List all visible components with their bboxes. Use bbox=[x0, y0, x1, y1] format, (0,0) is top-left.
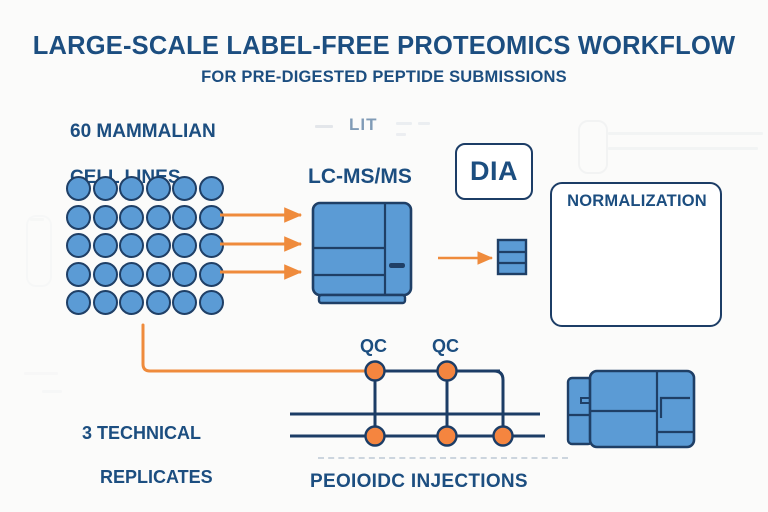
cell-line-dot bbox=[172, 233, 197, 258]
replicates-label-line1: 3 TECHNICAL bbox=[82, 423, 201, 443]
cell-line-dot bbox=[66, 290, 91, 315]
cell-line-dot bbox=[119, 233, 144, 258]
normalization-title: NORMALIZATION bbox=[552, 192, 722, 211]
cell-line-dot bbox=[172, 262, 197, 287]
cell-line-dot bbox=[199, 205, 224, 230]
cell-line-dot bbox=[119, 290, 144, 315]
cell-line-dot bbox=[199, 290, 224, 315]
dia-label: DIA bbox=[455, 143, 533, 200]
cell-line-dot bbox=[146, 233, 171, 258]
ghost-dashed-line bbox=[318, 457, 568, 459]
cell-line-dot bbox=[93, 290, 118, 315]
qc-label-1: QC bbox=[360, 336, 387, 357]
cell-line-dot bbox=[146, 290, 171, 315]
cell-line-dot bbox=[66, 176, 91, 201]
cell-line-dot bbox=[93, 176, 118, 201]
cell-line-dot bbox=[146, 205, 171, 230]
cell-line-dot bbox=[172, 205, 197, 230]
qc-nodes bbox=[366, 362, 513, 446]
cell-line-dot bbox=[93, 262, 118, 287]
cell-line-dot bbox=[93, 205, 118, 230]
feed-arrows bbox=[220, 215, 301, 272]
data-stack-icon bbox=[498, 240, 526, 274]
cell-line-dot bbox=[172, 290, 197, 315]
lcms-label: LC-MS/MS bbox=[308, 164, 412, 190]
cell-line-dot bbox=[199, 176, 224, 201]
cell-line-dot bbox=[146, 176, 171, 201]
qc-label-2: QC bbox=[432, 336, 459, 357]
injections-caption: PEOIOIDC INJECTIONS bbox=[310, 470, 528, 493]
cell-lines-label-line1: 60 MAMMALIAN bbox=[70, 121, 216, 142]
cell-line-dot bbox=[119, 262, 144, 287]
cell-line-dot bbox=[119, 176, 144, 201]
cell-line-dot bbox=[172, 176, 197, 201]
qc-track-system bbox=[290, 371, 545, 436]
cell-line-dot bbox=[66, 205, 91, 230]
lcms-instrument-icon bbox=[313, 203, 411, 303]
replicates-label: 3 TECHNICAL REPLICATES bbox=[82, 423, 213, 511]
cell-line-dot bbox=[199, 233, 224, 258]
page-title: LARGE-SCALE LABEL-FREE PROTEOMICS WORKFL… bbox=[0, 34, 768, 60]
infographic-canvas: LIT LARGE-SCALE LABEL-FREE PROTEOMICS WO… bbox=[0, 0, 768, 512]
cell-lines-label: 60 MAMMALIAN CELL LINES bbox=[70, 120, 216, 213]
page-subtitle: FOR PRE-DIGESTED PEPTIDE SUBMISSIONS bbox=[0, 69, 768, 86]
cell-line-dot bbox=[66, 262, 91, 287]
cell-line-dot bbox=[119, 205, 144, 230]
secondary-instrument-icon bbox=[568, 371, 694, 447]
cell-line-dot bbox=[146, 262, 171, 287]
cell-line-dot bbox=[93, 233, 118, 258]
replicates-label-line2: REPLICATES bbox=[82, 467, 213, 489]
cell-line-dot bbox=[66, 233, 91, 258]
grid-to-qc-path bbox=[143, 325, 368, 371]
ghost-text-lit: LIT bbox=[349, 115, 378, 135]
cell-line-dot bbox=[199, 262, 224, 287]
